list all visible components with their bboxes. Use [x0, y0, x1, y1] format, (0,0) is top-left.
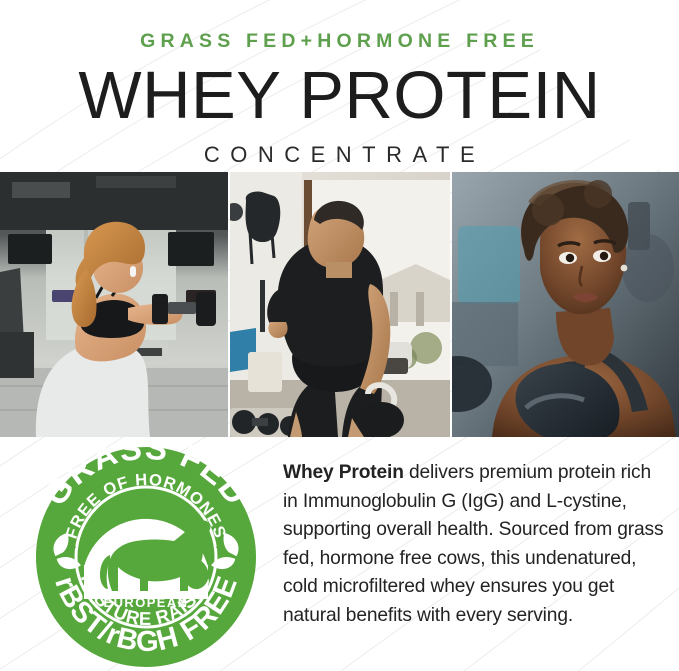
- eyebrow-text: GRASS FED+HORMONE FREE: [0, 30, 679, 53]
- photo-woman-boxing: [452, 172, 679, 437]
- header: GRASS FED+HORMONE FREE WHEY PROTEIN CONC…: [0, 0, 679, 168]
- description-body: delivers premium protein rich in Immunog…: [283, 462, 663, 626]
- photo-woman-dumbbell-squat: [0, 172, 228, 437]
- photo-band: [0, 172, 679, 437]
- product-description: Whey Protein delivers premium protein ri…: [283, 459, 665, 631]
- photo-man-kettlebell: [230, 172, 450, 437]
- badge-center-label: EUROPEAN: [104, 595, 189, 610]
- grass-fed-badge: GRASS FED rBST/rBGH FREE FREE OF HORMONE…: [22, 439, 270, 667]
- description-lead: Whey Protein: [283, 462, 404, 483]
- page-subtitle: CONCENTRATE: [0, 142, 679, 168]
- page-title: WHEY PROTEIN: [0, 62, 679, 129]
- bottom-section: GRASS FED rBST/rBGH FREE FREE OF HORMONE…: [0, 437, 679, 671]
